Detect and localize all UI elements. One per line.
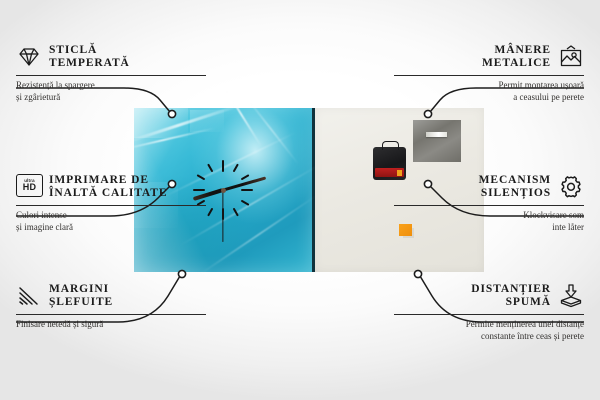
callout-edges-title: MARGINI ȘLEFUITE <box>49 283 113 309</box>
gear-icon <box>558 174 584 200</box>
callout-spacer-title: DISTANȚIER SPUMĂ <box>471 283 551 309</box>
callout-divider <box>394 314 584 315</box>
callout-movement-head: MECANISM SILENȚIOS <box>394 172 584 202</box>
callout-handles-head: MÂNERE METALICE <box>394 42 584 72</box>
callout-print-head: ultra HD IMPRIMARE DE ÎNALTĂ CALITATE <box>16 172 206 202</box>
callout-handles-title: MÂNERE METALICE <box>482 44 551 70</box>
feather-streak <box>224 87 262 147</box>
callout-glass-head: STICLĂ TEMPERATĂ <box>16 42 206 72</box>
callout-edges-subtitle: Finisare netedă și sigură <box>16 319 206 331</box>
foam-spacer-press-icon <box>558 283 584 309</box>
polished-edges-icon <box>16 283 42 309</box>
ultra-hd-icon: ultra HD <box>16 174 42 200</box>
callout-divider <box>16 205 206 206</box>
diamond-icon <box>16 44 42 70</box>
callout-glass-subtitle: Rezistență la spargere și zgârietură <box>16 80 206 103</box>
callout-spacer: DISTANȚIER SPUMĂ Permite menținerea unei… <box>394 281 584 342</box>
callout-divider <box>394 205 584 206</box>
callout-movement-title: MECANISM SILENȚIOS <box>479 174 551 200</box>
callout-handles-subtitle: Permit montarea ușoară a ceasului pe per… <box>394 80 584 103</box>
callout-spacer-head: DISTANȚIER SPUMĂ <box>394 281 584 311</box>
callout-movement: MECANISM SILENȚIOS Klockvisare som inte … <box>394 172 584 233</box>
callout-glass-title: STICLĂ TEMPERATĂ <box>49 44 130 70</box>
picture-frame-hanger-icon <box>558 44 584 70</box>
clock-center-cap <box>221 188 226 193</box>
callout-print: ultra HD IMPRIMARE DE ÎNALTĂ CALITATE Cu… <box>16 172 206 233</box>
ultra-hd-icon-main-label: HD <box>23 183 36 192</box>
callout-handles: MÂNERE METALICE Permit montarea ușoară a… <box>394 42 584 103</box>
callout-glass: STICLĂ TEMPERATĂ Rezistență la spargere … <box>16 42 206 103</box>
feather-streak <box>199 195 316 275</box>
callout-spacer-subtitle: Permite menținerea unei distanțe constan… <box>394 319 584 342</box>
metal-hanger <box>413 120 461 162</box>
infographic-canvas: STICLĂ TEMPERATĂ Rezistență la spargere … <box>0 0 600 400</box>
callout-edges-head: MARGINI ȘLEFUITE <box>16 281 206 311</box>
callout-divider <box>16 314 206 315</box>
callout-print-title: IMPRIMARE DE ÎNALTĂ CALITATE <box>49 174 167 200</box>
feather-shard <box>190 110 224 132</box>
callout-divider <box>16 75 206 76</box>
callout-movement-subtitle: Klockvisare som inte låter <box>394 210 584 233</box>
callout-edges: MARGINI ȘLEFUITE Finisare netedă și sigu… <box>16 281 206 331</box>
feather-shard <box>134 108 188 138</box>
callout-print-subtitle: Culori intense și imagine clară <box>16 210 206 233</box>
callout-divider <box>394 75 584 76</box>
